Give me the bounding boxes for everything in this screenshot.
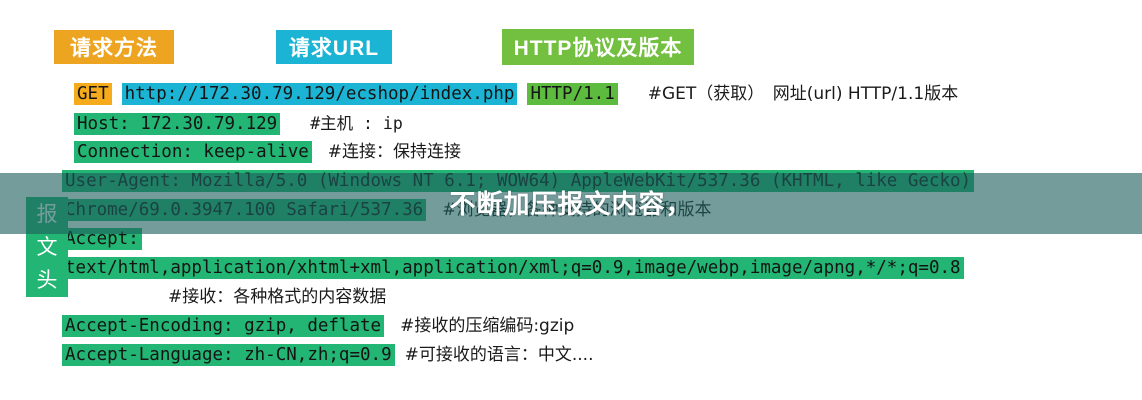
callout-tag-http-protocol-version: HTTP协议及版本: [502, 29, 694, 65]
request-line-10: Accept-Language: zh-CN,zh;q=0.9#可接收的语言：中…: [0, 341, 1142, 370]
request-line-1: GEThttp://172.30.79.129/ecshop/index.php…: [0, 80, 1142, 109]
request-line-7: text/html,application/xhtml+xml,applicat…: [0, 254, 1142, 283]
header-accept-language: Accept-Language: zh-CN,zh;q=0.9: [62, 344, 395, 366]
section-label-char-3: 头: [37, 264, 58, 297]
request-line-8: #接收：各种格式的内容数据: [0, 283, 1142, 312]
screenshot-root: 请求方法 请求URL HTTP协议及版本 GEThttp://172.30.79…: [0, 0, 1142, 400]
header-accept-language-comment: #可接收的语言：中文....: [405, 345, 594, 365]
request-line-1-comment: #GET（获取） 网址(url) HTTP/1.1版本: [648, 84, 958, 104]
request-url-token: http://172.30.79.129/ecshop/index.php: [122, 83, 518, 105]
header-accept-encoding-comment: #接收的压缩编码:gzip: [400, 316, 574, 336]
callout-tag-request-method: 请求方法: [54, 30, 174, 64]
overlay-banner-text: 不断加压报文内容，: [0, 182, 1142, 222]
header-host-comment: #主机 : ip: [310, 114, 403, 133]
request-version-token: HTTP/1.1: [527, 83, 617, 105]
header-accept-value: text/html,application/xhtml+xml,applicat…: [62, 257, 964, 279]
section-label-char-2: 文: [37, 231, 58, 264]
header-accept-encoding: Accept-Encoding: gzip, deflate: [62, 315, 384, 337]
callout-tag-request-url: 请求URL: [276, 30, 392, 64]
request-method-token: GET: [74, 83, 112, 105]
header-connection-comment: #连接：保持连接: [328, 142, 461, 162]
header-accept-comment: #接收：各种格式的内容数据: [168, 287, 386, 307]
http-request-message: GEThttp://172.30.79.129/ecshop/index.php…: [0, 80, 1142, 370]
request-line-6: Accept:: [0, 225, 1142, 254]
request-line-3: Connection: keep-alive#连接：保持连接: [0, 138, 1142, 167]
request-line-9: Accept-Encoding: gzip, deflate#接收的压缩编码:g…: [0, 312, 1142, 341]
request-line-2: Host: 172.30.79.129#主机 : ip: [0, 109, 1142, 138]
header-connection: Connection: keep-alive: [74, 141, 312, 163]
header-accept: Accept:: [62, 228, 142, 250]
header-host: Host: 172.30.79.129: [74, 113, 280, 135]
